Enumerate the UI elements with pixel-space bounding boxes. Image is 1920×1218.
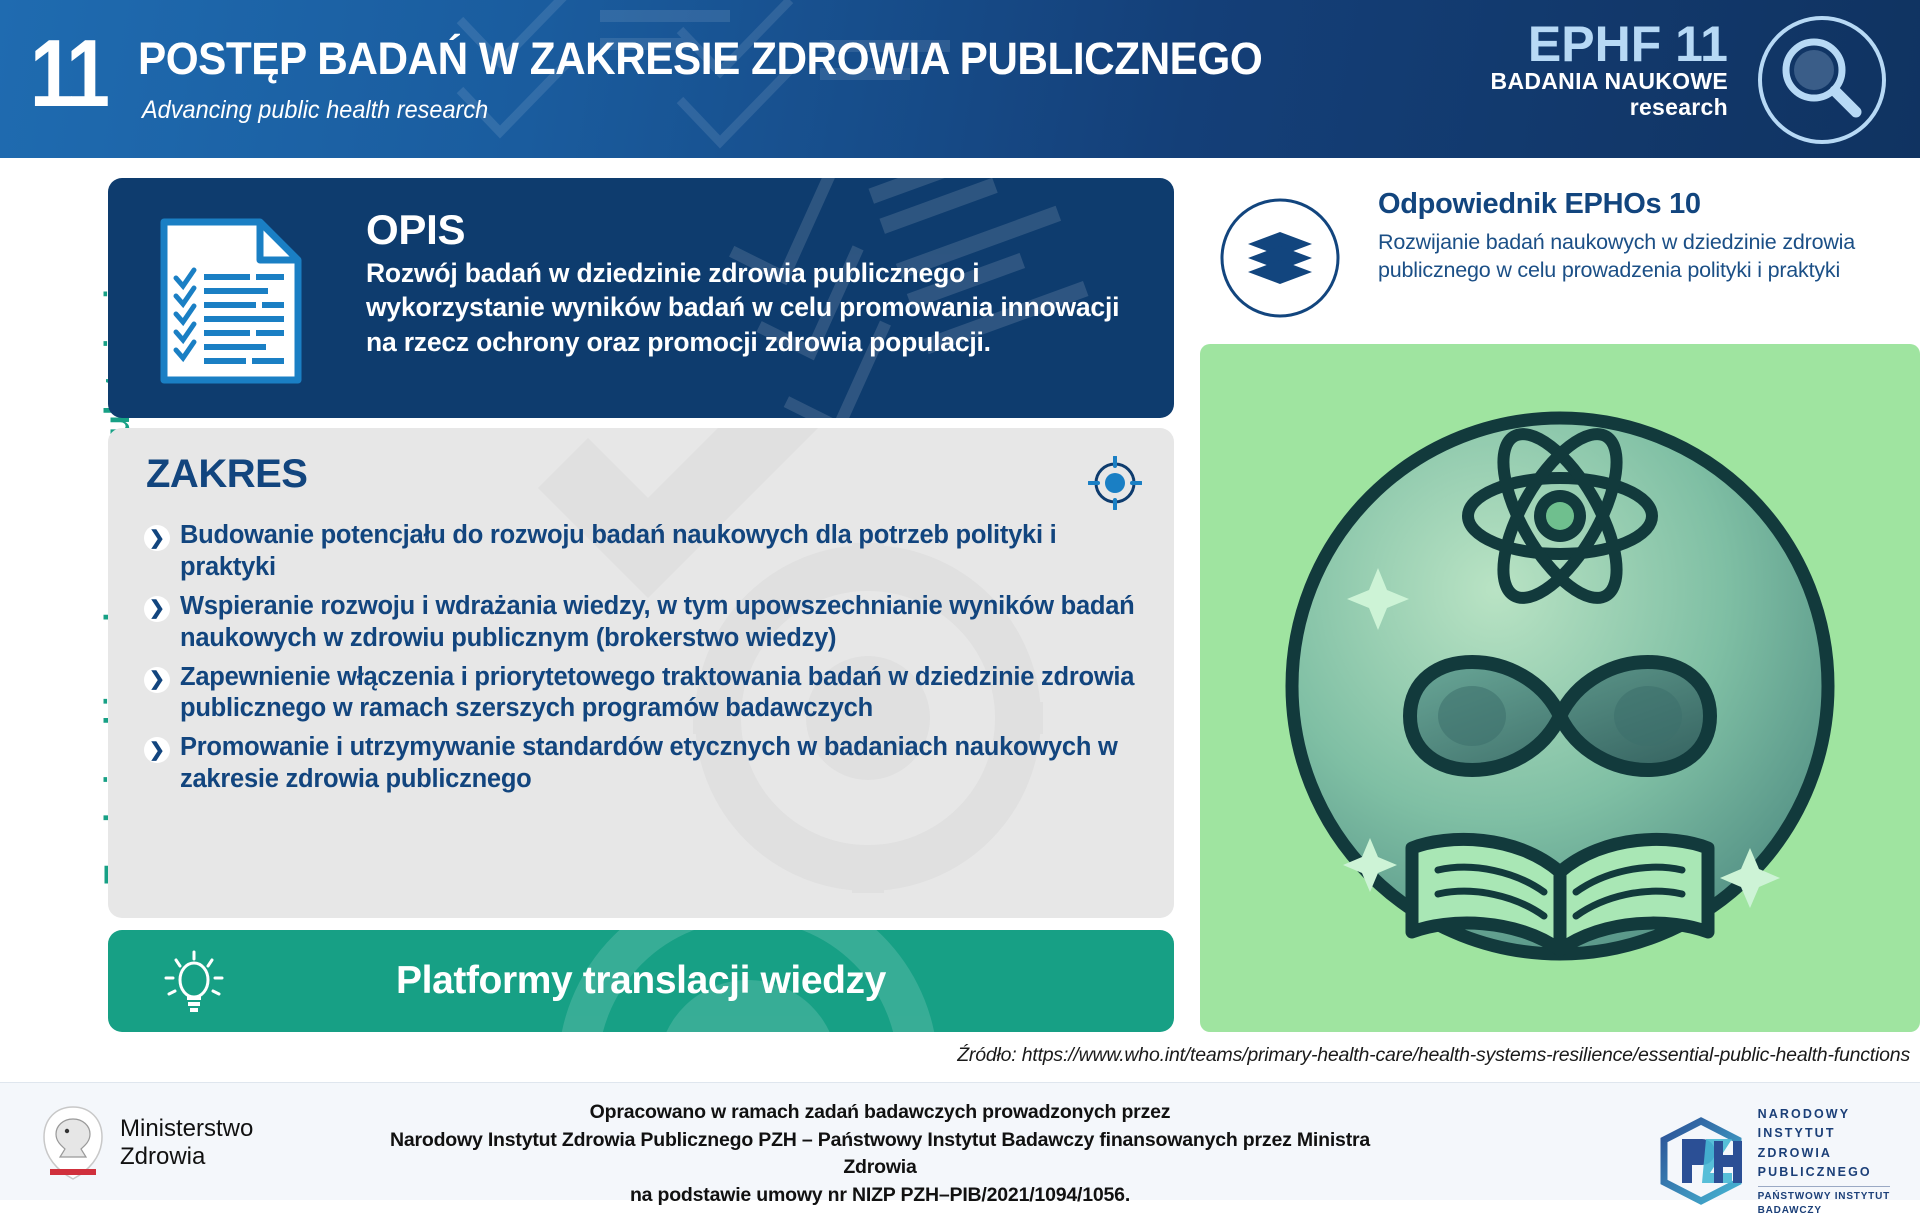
magnifier-icon xyxy=(1752,10,1892,150)
pzh-hexagon-logo-icon xyxy=(1656,1117,1746,1205)
footer-credit-line2: Narodowy Instytut Zdrowia Publicznego PZ… xyxy=(380,1127,1380,1182)
page-subtitle: Advancing public health research xyxy=(142,96,488,125)
ministry-name-line2: Zdrowia xyxy=(120,1143,253,1171)
chevron-right-icon: ❯ xyxy=(144,525,170,551)
ministry-name-line1: Ministerstwo xyxy=(120,1115,253,1143)
zakres-bullet-list: ❯ Budowanie potencjału do rozwoju badań … xyxy=(144,520,1144,803)
opis-title: OPIS xyxy=(366,206,465,254)
list-item: ❯ Zapewnienie włączenia i priorytetowego… xyxy=(144,662,1144,726)
footer-credit-line1: Opracowano w ramach zadań badawczych pro… xyxy=(380,1099,1380,1127)
pzh-name-line3: ZDROWIA xyxy=(1758,1144,1890,1163)
chevron-right-icon: ❯ xyxy=(144,596,170,622)
opis-card: OPIS Rozwój badań w dziedzinie zdrowia p… xyxy=(108,178,1174,418)
pzh-name: NARODOWY INSTYTUT ZDROWIA PUBLICZNEGO PA… xyxy=(1758,1105,1890,1218)
chevron-right-icon: ❯ xyxy=(144,737,170,763)
checklist-document-icon xyxy=(150,216,310,386)
page-title: POSTĘP BADAŃ W ZAKRESIE ZDROWIA PUBLICZN… xyxy=(138,36,1262,81)
zakres-card: ZAKRES ❯ Budowanie potencjału do rozwoju… xyxy=(108,428,1174,918)
function-number: 11 xyxy=(30,26,107,122)
list-item-text: Wspieranie rozwoju i wdrażania wiedzy, w… xyxy=(180,591,1144,655)
pzh-name-line2: INSTYTUT xyxy=(1758,1124,1890,1143)
ephf-badge-pl: BADANIA NAUKOWE xyxy=(1491,68,1728,94)
ephf-badge: EPHF 11 BADANIA NAUKOWE research xyxy=(1491,20,1728,121)
polish-eagle-emblem-icon xyxy=(40,1105,106,1181)
pzh-name-line6: BADAWCZY xyxy=(1758,1204,1890,1218)
research-illustration-panel xyxy=(1200,344,1920,1032)
list-item-text: Budowanie potencjału do rozwoju badań na… xyxy=(180,520,1144,584)
chevron-right-icon: ❯ xyxy=(144,667,170,693)
page-header: 11 POSTĘP BADAŃ W ZAKRESIE ZDROWIA PUBLI… xyxy=(0,0,1920,158)
gear-target-icon xyxy=(1088,456,1142,510)
banner-label: Platformy translacji wiedzy xyxy=(108,930,1174,1032)
books-stack-icon xyxy=(1218,196,1342,320)
pzh-name-line1: NARODOWY xyxy=(1758,1105,1890,1124)
research-atom-infinity-book-illustration xyxy=(1230,368,1890,1008)
source-line: Źródło: https://www.who.int/teams/primar… xyxy=(840,1044,1910,1067)
ephf-badge-en: research xyxy=(1491,94,1728,120)
list-item: ❯ Promowanie i utrzymywanie standardów e… xyxy=(144,732,1144,796)
pzh-institute-logo: NARODOWY INSTYTUT ZDROWIA PUBLICZNEGO PA… xyxy=(1656,1105,1890,1218)
footer-credit-line3: na podstawie umowy nr NIZP PZH–PIB/2021/… xyxy=(380,1182,1380,1210)
zakres-title: ZAKRES xyxy=(146,452,307,497)
opis-body: Rozwój badań w dziedzinie zdrowia public… xyxy=(366,256,1156,359)
source-url: https://www.who.int/teams/primary-health… xyxy=(1022,1044,1910,1066)
list-item-text: Promowanie i utrzymywanie standardów ety… xyxy=(180,732,1144,796)
pzh-name-line4: PUBLICZNEGO xyxy=(1758,1163,1890,1182)
source-label: Źródło: xyxy=(957,1044,1016,1066)
pzh-name-line5: PAŃSTWOWY INSTYTUT xyxy=(1758,1186,1890,1204)
list-item: ❯ Budowanie potencjału do rozwoju badań … xyxy=(144,520,1144,584)
ministry-of-health-logo: Ministerstwo Zdrowia xyxy=(40,1105,253,1181)
page-footer: Ministerstwo Zdrowia Opracowano w ramach… xyxy=(0,1082,1920,1200)
list-item: ❯ Wspieranie rozwoju i wdrażania wiedzy,… xyxy=(144,591,1144,655)
ephf-badge-code: EPHF 11 xyxy=(1491,20,1728,68)
list-item-text: Zapewnienie włączenia i priorytetowego t… xyxy=(180,662,1144,726)
footer-credit: Opracowano w ramach zadań badawczych pro… xyxy=(380,1099,1380,1210)
ephos-body: Rozwijanie badań naukowych w dziedzinie … xyxy=(1378,228,1908,285)
ministry-name: Ministerstwo Zdrowia xyxy=(120,1115,253,1171)
knowledge-platform-banner: Platformy translacji wiedzy xyxy=(108,930,1174,1032)
ephos-title: Odpowiednik EPHOs 10 xyxy=(1378,188,1701,221)
